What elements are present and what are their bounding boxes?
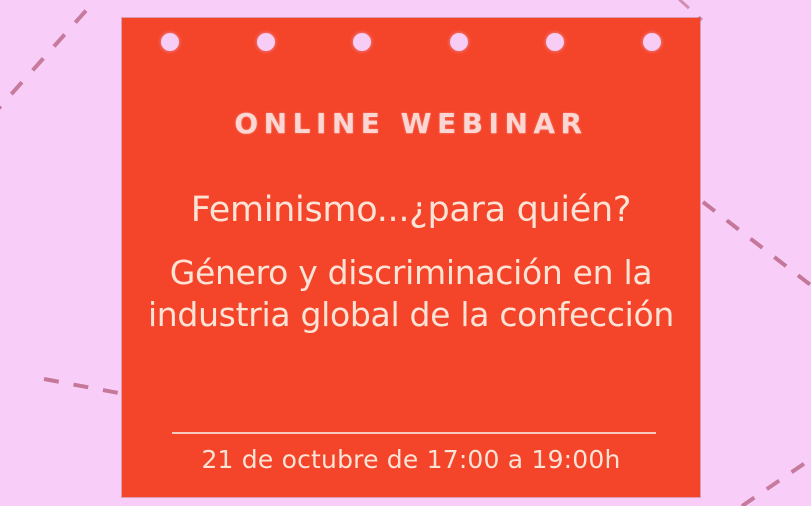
dashed-line-top-left [0,0,108,118]
datetime-label: 21 de octubre de 17:00 a 19:00h [122,444,700,477]
dashed-line-bottom-left [44,379,124,394]
headline-question: Feminismo...¿para quién? [122,190,700,231]
headline-subject: Género y discriminación en la industria … [122,252,700,336]
dashed-line-bottom-right [742,446,811,506]
poster-card: ONLINE WEBINAR Feminismo...¿para quién? … [122,18,700,497]
dashed-line-top-right [660,0,702,20]
webinar-poster: ONLINE WEBINAR Feminismo...¿para quién? … [0,0,811,506]
dashed-line-right [703,202,811,300]
card-content: ONLINE WEBINAR Feminismo...¿para quién? … [122,18,700,497]
headline-subject-line-1: Género y discriminación en la [122,252,700,294]
eyebrow-label: ONLINE WEBINAR [122,110,700,138]
headline-subject-line-2: industria global de la confección [122,294,700,336]
horizontal-divider [172,432,656,434]
